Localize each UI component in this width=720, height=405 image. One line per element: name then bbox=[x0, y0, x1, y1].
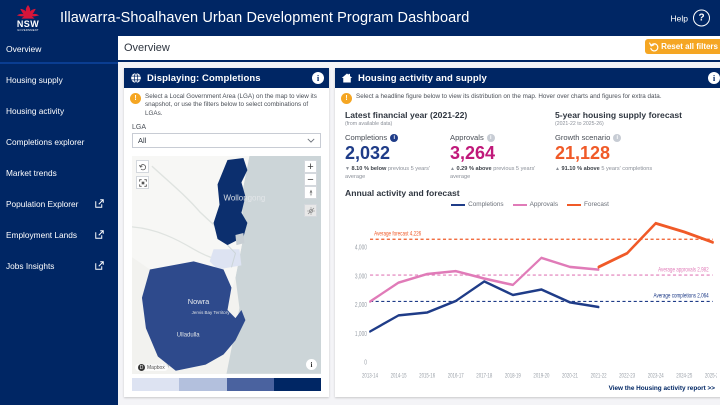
question-circle-icon[interactable]: ? bbox=[693, 10, 710, 27]
sidebar-item-housing-activity[interactable]: Housing activity bbox=[0, 95, 118, 126]
lga-filter-label: LGA bbox=[124, 120, 329, 133]
housing-panel-header: Housing activity and supply i bbox=[335, 68, 720, 88]
help-control[interactable]: Help ? bbox=[671, 10, 710, 27]
lightbulb-icon: ! bbox=[341, 93, 352, 104]
legend-swatch-forecast bbox=[567, 204, 581, 206]
metric-info-icon[interactable]: i bbox=[613, 134, 621, 142]
legend-label: Forecast bbox=[584, 201, 609, 208]
legend-label: Completions bbox=[468, 201, 504, 208]
map-geolocate-button[interactable] bbox=[304, 204, 317, 217]
chevron-down-icon bbox=[307, 138, 315, 143]
external-link-icon bbox=[95, 199, 104, 208]
legend-swatch-1 bbox=[132, 378, 179, 391]
metric-info-icon[interactable]: i bbox=[487, 134, 495, 142]
housing-info-icon[interactable]: i bbox=[708, 72, 720, 84]
svg-text:1,000: 1,000 bbox=[355, 331, 368, 338]
trend-down-icon: ▼ bbox=[345, 166, 350, 172]
map-attribution-info-icon[interactable]: i bbox=[306, 359, 317, 370]
lightbulb-icon: ! bbox=[130, 93, 141, 104]
geolocate-icon bbox=[307, 207, 315, 215]
map-color-legend bbox=[132, 378, 321, 391]
metric-growth-scenario[interactable]: Growth scenario i 21,128 ▲ 91.10 % above… bbox=[555, 133, 715, 181]
reset-all-filters-button[interactable]: Reset all filters bbox=[645, 39, 720, 54]
svg-text:Ulladulla: Ulladulla bbox=[177, 332, 201, 338]
main-content: Overview Reset all filters bbox=[118, 36, 720, 405]
housing-hint-text: Select a headline figure below to view i… bbox=[356, 93, 662, 104]
legend-item-completions[interactable]: Completions bbox=[451, 201, 504, 208]
metric-approvals[interactable]: Approvals i 3,264 ▲ 0.29 % above previou… bbox=[450, 133, 555, 181]
sidebar-item-market-trends[interactable]: Market trends bbox=[0, 157, 118, 188]
metric-delta: ▲ 0.29 % above previous 5 years' average bbox=[450, 166, 555, 181]
svg-text:2016-17: 2016-17 bbox=[448, 373, 464, 380]
sidebar-nav: Overview Housing supply Housing activity… bbox=[0, 36, 118, 405]
external-link-icon bbox=[95, 230, 104, 239]
map-graphic: Wollongong Nowra Jervis Bay Territory Ul… bbox=[132, 156, 321, 374]
metric-delta: ▼ 8.10 % below previous 5 years' average bbox=[345, 166, 450, 181]
forecast-heading-group: 5-year housing supply forecast (2021-22 … bbox=[555, 110, 682, 127]
legend-swatch-3 bbox=[227, 378, 274, 391]
trend-up-icon: ▲ bbox=[450, 166, 455, 172]
svg-text:Average forecast 4,226: Average forecast 4,226 bbox=[374, 231, 421, 238]
sidebar-item-jobs-insights[interactable]: Jobs Insights bbox=[0, 250, 118, 281]
metric-approvals-label-row: Approvals i bbox=[450, 133, 555, 142]
lga-filter-value: All bbox=[138, 136, 146, 145]
compass-icon bbox=[307, 189, 315, 197]
svg-text:0: 0 bbox=[364, 360, 367, 367]
metric-delta-strong: 8.10 % below bbox=[352, 166, 387, 172]
legend-item-approvals[interactable]: Approvals bbox=[513, 201, 558, 208]
svg-text:2023-24: 2023-24 bbox=[648, 373, 664, 380]
metric-delta-strong: 91.10 % above bbox=[562, 166, 600, 172]
chart-area[interactable]: 01,0002,0003,0004,0002013-142014-152015-… bbox=[335, 208, 720, 385]
legend-swatch-2 bbox=[179, 378, 226, 391]
waratah-icon bbox=[15, 4, 41, 19]
metric-value: 3,264 bbox=[450, 143, 555, 164]
reset-view-icon bbox=[139, 163, 147, 171]
metric-value: 21,128 bbox=[555, 143, 715, 164]
legend-swatch-approvals bbox=[513, 204, 527, 206]
housing-hint: ! Select a headline figure below to view… bbox=[335, 88, 720, 106]
svg-text:2022-23: 2022-23 bbox=[619, 373, 635, 380]
map-hint: ! Select a Local Government Area (LGA) o… bbox=[124, 88, 329, 120]
sidebar-item-label: Completions explorer bbox=[6, 137, 84, 147]
external-link-icon bbox=[95, 261, 104, 270]
svg-text:Average approvals 2,982: Average approvals 2,982 bbox=[658, 267, 709, 274]
svg-text:4,000: 4,000 bbox=[355, 245, 368, 252]
mapbox-attribution-label: Mapbox bbox=[147, 365, 165, 371]
svg-text:2015-16: 2015-16 bbox=[419, 373, 435, 380]
housing-activity-panel: Housing activity and supply i ! Select a… bbox=[335, 68, 720, 397]
sidebar-item-label: Employment Lands bbox=[6, 230, 77, 240]
panes-container: Displaying: Completions i ! Select a Loc… bbox=[118, 62, 720, 403]
map-hint-text: Select a Local Government Area (LGA) on … bbox=[145, 93, 323, 118]
dashboard-body: Overview Housing supply Housing activity… bbox=[0, 36, 720, 405]
sidebar-item-overview[interactable]: Overview bbox=[0, 36, 118, 64]
sidebar-item-housing-supply[interactable]: Housing supply bbox=[0, 64, 118, 95]
metric-delta-rest: 5 years' completions bbox=[601, 166, 652, 172]
sidebar-item-label: Market trends bbox=[6, 168, 57, 178]
chart-legend: Completions Approvals Forecast bbox=[335, 201, 720, 208]
svg-text:2019-20: 2019-20 bbox=[533, 373, 549, 380]
reset-button-label: Reset all filters bbox=[661, 42, 718, 51]
svg-text:Nowra: Nowra bbox=[188, 297, 210, 306]
legend-item-forecast[interactable]: Forecast bbox=[567, 201, 609, 208]
svg-text:2,000: 2,000 bbox=[355, 303, 368, 310]
map-canvas[interactable]: Wollongong Nowra Jervis Bay Territory Ul… bbox=[132, 156, 321, 374]
chart-title: Annual activity and forecast bbox=[335, 181, 720, 198]
headings-row: Latest financial year (2021-22) (from av… bbox=[335, 106, 720, 127]
svg-text:2024-25: 2024-25 bbox=[676, 373, 692, 380]
trend-up-icon: ▲ bbox=[555, 166, 560, 172]
help-label: Help bbox=[671, 13, 688, 23]
dashboard-app: NSW GOVERNMENT Illawarra-Shoalhaven Urba… bbox=[0, 0, 720, 405]
sidebar-item-label: Housing activity bbox=[6, 106, 64, 116]
nsw-logo-subtext: GOVERNMENT bbox=[17, 29, 39, 33]
svg-text:Jervis Bay Territory: Jervis Bay Territory bbox=[192, 310, 231, 315]
metric-value: 2,032 bbox=[345, 143, 450, 164]
sidebar-item-label: Jobs Insights bbox=[6, 261, 54, 271]
housing-activity-report-link[interactable]: View the Housing activity report >> bbox=[335, 385, 720, 397]
content-header: Overview Reset all filters bbox=[118, 36, 720, 62]
metric-delta: ▲ 91.10 % above 5 years' completions bbox=[555, 166, 715, 174]
metric-completions[interactable]: Completions i 2,032 ▼ 8.10 % below previ… bbox=[345, 133, 450, 181]
legend-swatch-completions bbox=[451, 204, 465, 206]
svg-text:3,000: 3,000 bbox=[355, 274, 368, 281]
fullscreen-icon bbox=[139, 179, 147, 187]
map-reset-view-button[interactable] bbox=[136, 160, 149, 173]
nsw-government-logo: NSW GOVERNMENT bbox=[6, 1, 50, 35]
sidebar-item-population-explorer[interactable]: Population Explorer bbox=[0, 188, 118, 219]
metrics-row: Completions i 2,032 ▼ 8.10 % below previ… bbox=[335, 127, 720, 181]
sidebar-item-completions-explorer[interactable]: Completions explorer bbox=[0, 126, 118, 157]
housing-panel-title: Housing activity and supply bbox=[358, 73, 487, 84]
forecast-heading: 5-year housing supply forecast bbox=[555, 110, 682, 120]
svg-text:2013-14: 2013-14 bbox=[362, 373, 378, 380]
metric-info-icon[interactable]: i bbox=[390, 134, 398, 142]
map-panel: Displaying: Completions i ! Select a Loc… bbox=[124, 68, 329, 397]
nsw-logo-text: NSW bbox=[17, 19, 39, 29]
sidebar-item-label: Population Explorer bbox=[6, 199, 78, 209]
undo-arrow-icon bbox=[649, 42, 659, 52]
svg-text:Wollongong: Wollongong bbox=[224, 194, 266, 203]
sidebar-item-label: Overview bbox=[6, 44, 41, 54]
page-title: Illawarra-Shoalhaven Urban Development P… bbox=[60, 10, 469, 26]
mapbox-logo-icon: D bbox=[138, 364, 145, 371]
top-header-bar: NSW GOVERNMENT Illawarra-Shoalhaven Urba… bbox=[0, 0, 720, 36]
metric-label: Growth scenario bbox=[555, 133, 610, 142]
globe-icon bbox=[130, 72, 142, 84]
legend-label: Approvals bbox=[530, 201, 558, 208]
metric-growth-label-row: Growth scenario i bbox=[555, 133, 715, 142]
svg-text:Average completions 2,064: Average completions 2,064 bbox=[654, 293, 709, 300]
metric-label: Approvals bbox=[450, 133, 484, 142]
svg-text:2025-26: 2025-26 bbox=[705, 373, 717, 380]
svg-text:2020-21: 2020-21 bbox=[562, 373, 578, 380]
map-zoom-in-button[interactable]: + bbox=[304, 160, 317, 173]
map-zoom-out-button[interactable]: − bbox=[304, 173, 317, 186]
metric-delta-strong: 0.29 % above bbox=[457, 166, 492, 172]
latest-financial-year-heading-group: Latest financial year (2021-22) (from av… bbox=[345, 110, 555, 127]
map-fullscreen-button[interactable] bbox=[136, 176, 149, 189]
svg-text:2017-18: 2017-18 bbox=[476, 373, 492, 380]
metric-completions-label-row: Completions i bbox=[345, 133, 450, 142]
lga-filter-select[interactable]: All bbox=[132, 133, 321, 148]
annual-activity-chart[interactable]: 01,0002,0003,0004,0002013-142014-152015-… bbox=[343, 208, 717, 385]
map-panel-header: Displaying: Completions i bbox=[124, 68, 329, 88]
sidebar-item-label: Housing supply bbox=[6, 75, 63, 85]
map-info-icon[interactable]: i bbox=[312, 72, 324, 84]
latest-financial-year-heading: Latest financial year (2021-22) bbox=[345, 110, 555, 120]
svg-text:2014-15: 2014-15 bbox=[391, 373, 407, 380]
content-title: Overview bbox=[118, 42, 170, 54]
metric-label: Completions bbox=[345, 133, 387, 142]
map-compass-button[interactable] bbox=[304, 186, 317, 199]
svg-text:2021-22: 2021-22 bbox=[591, 373, 607, 380]
home-icon bbox=[341, 72, 353, 84]
legend-swatch-4 bbox=[274, 378, 321, 391]
mapbox-attribution[interactable]: D Mapbox bbox=[135, 364, 168, 371]
svg-text:2018-19: 2018-19 bbox=[505, 373, 521, 380]
map-panel-title: Displaying: Completions bbox=[147, 73, 261, 84]
sidebar-item-employment-lands[interactable]: Employment Lands bbox=[0, 219, 118, 250]
